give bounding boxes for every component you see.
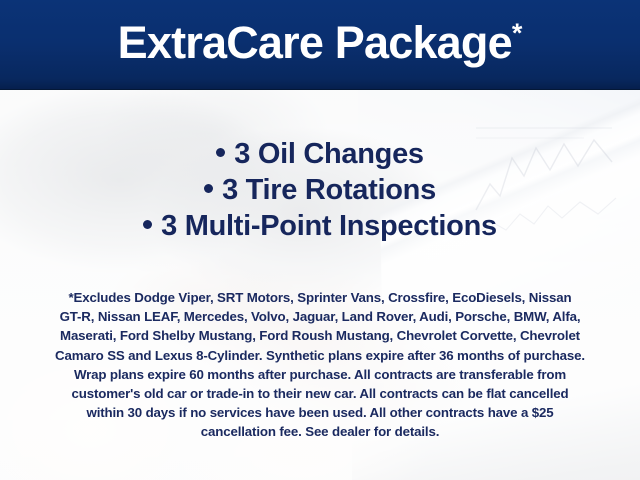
disclaimer-line: Wrap plans expire 60 months after purcha… bbox=[22, 365, 618, 384]
disclaimer-line: Maserati, Ford Shelby Mustang, Ford Rous… bbox=[22, 326, 618, 345]
list-item: 3 Oil Changes bbox=[0, 136, 640, 172]
disclaimer-line: within 30 days if no services have been … bbox=[22, 403, 618, 422]
page-title-text: ExtraCare Package bbox=[118, 17, 512, 68]
bullet-dot-icon bbox=[216, 148, 225, 157]
disclaimer-line: *Excludes Dodge Viper, SRT Motors, Sprin… bbox=[22, 288, 618, 307]
benefits-list: 3 Oil Changes 3 Tire Rotations 3 Multi-P… bbox=[0, 136, 640, 244]
disclaimer-line: customer's old car or trade-in to their … bbox=[22, 384, 618, 403]
header-band: ExtraCare Package* bbox=[0, 0, 640, 89]
disclaimer-line: cancellation fee. See dealer for details… bbox=[22, 422, 618, 441]
benefit-label: 3 Tire Rotations bbox=[222, 174, 436, 206]
page-title-asterisk: * bbox=[512, 18, 523, 48]
disclaimer-text: *Excludes Dodge Viper, SRT Motors, Sprin… bbox=[22, 288, 618, 442]
benefit-label: 3 Oil Changes bbox=[234, 138, 424, 170]
bullet-dot-icon bbox=[204, 184, 213, 193]
page-title: ExtraCare Package* bbox=[118, 20, 523, 69]
bullet-dot-icon bbox=[143, 220, 152, 229]
list-item: 3 Multi-Point Inspections bbox=[0, 208, 640, 244]
list-item: 3 Tire Rotations bbox=[0, 172, 640, 208]
disclaimer-line: GT-R, Nissan LEAF, Mercedes, Volvo, Jagu… bbox=[22, 307, 618, 326]
disclaimer-line: Camaro SS and Lexus 8-Cylinder. Syntheti… bbox=[22, 346, 618, 365]
extracare-package-promo: ExtraCare Package* 3 Oil Changes 3 Tire … bbox=[0, 0, 640, 480]
benefit-label: 3 Multi-Point Inspections bbox=[161, 210, 497, 242]
